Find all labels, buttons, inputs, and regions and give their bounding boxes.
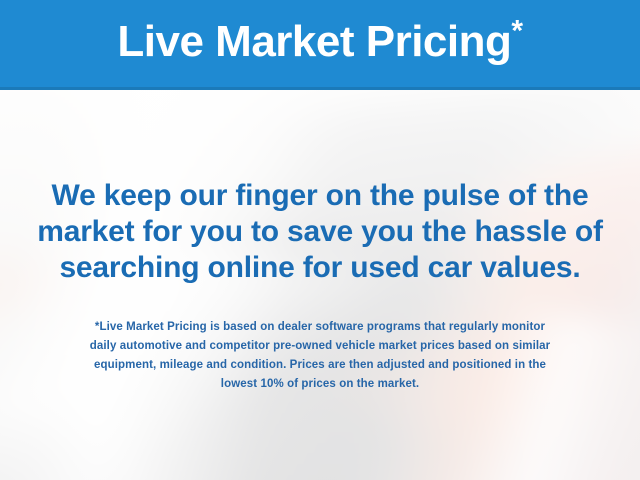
disclaimer-block: *Live Market Pricing is based on dealer … xyxy=(0,318,640,394)
headline-block: We keep our finger on the pulse of the m… xyxy=(0,178,640,286)
disclaimer-line-2: daily automotive and competitor pre-owne… xyxy=(0,337,640,356)
disclaimer-line-3: equipment, mileage and condition. Prices… xyxy=(0,356,640,375)
page-title-asterisk: * xyxy=(511,14,522,47)
live-market-pricing-promo-card: Live Market Pricing* We keep our finger … xyxy=(0,0,640,480)
disclaimer-line-1: *Live Market Pricing is based on dealer … xyxy=(0,318,640,337)
page-title: Live Market Pricing* xyxy=(117,20,522,67)
disclaimer-line-4: lowest 10% of prices on the market. xyxy=(0,375,640,394)
headline-line-2: market for you to save you the hassle of xyxy=(0,214,640,250)
header-banner: Live Market Pricing* xyxy=(0,0,640,90)
headline-line-1: We keep our finger on the pulse of the xyxy=(0,178,640,214)
headline-line-3: searching online for used car values. xyxy=(0,250,640,286)
page-title-text: Live Market Pricing xyxy=(117,17,511,66)
